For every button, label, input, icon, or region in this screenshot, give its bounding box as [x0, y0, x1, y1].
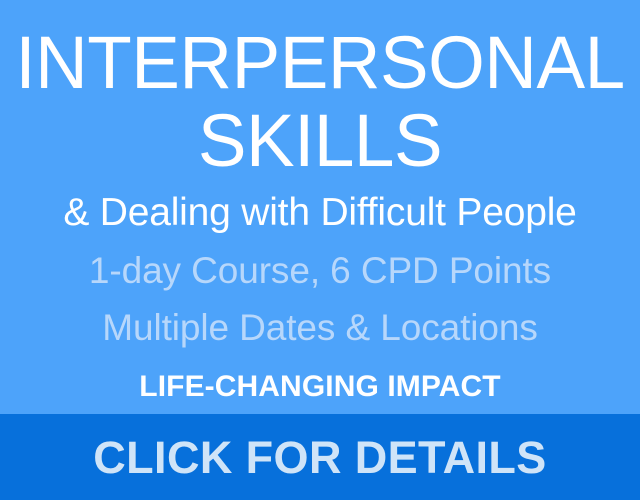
- banner-headline: INTERPERSONAL SKILLS: [5, 26, 635, 178]
- headline-line-primary: INTERPERSONAL: [5, 26, 635, 99]
- headline-line-secondary: SKILLS: [5, 104, 635, 177]
- cta-button-label: CLICK FOR DETAILS: [93, 435, 546, 480]
- banner-subheadline: & Dealing with Difficult People: [0, 193, 640, 232]
- banner-content-area: INTERPERSONAL SKILLS & Dealing with Diff…: [0, 0, 640, 414]
- banner-impact-statement: LIFE-CHANGING IMPACT: [0, 372, 640, 402]
- advertisement-banner[interactable]: INTERPERSONAL SKILLS & Dealing with Diff…: [0, 0, 640, 500]
- click-for-details-button[interactable]: CLICK FOR DETAILS: [0, 414, 640, 500]
- banner-detail-course-info: 1-day Course, 6 CPD Points: [0, 252, 640, 289]
- banner-detail-dates-locations: Multiple Dates & Locations: [0, 309, 640, 346]
